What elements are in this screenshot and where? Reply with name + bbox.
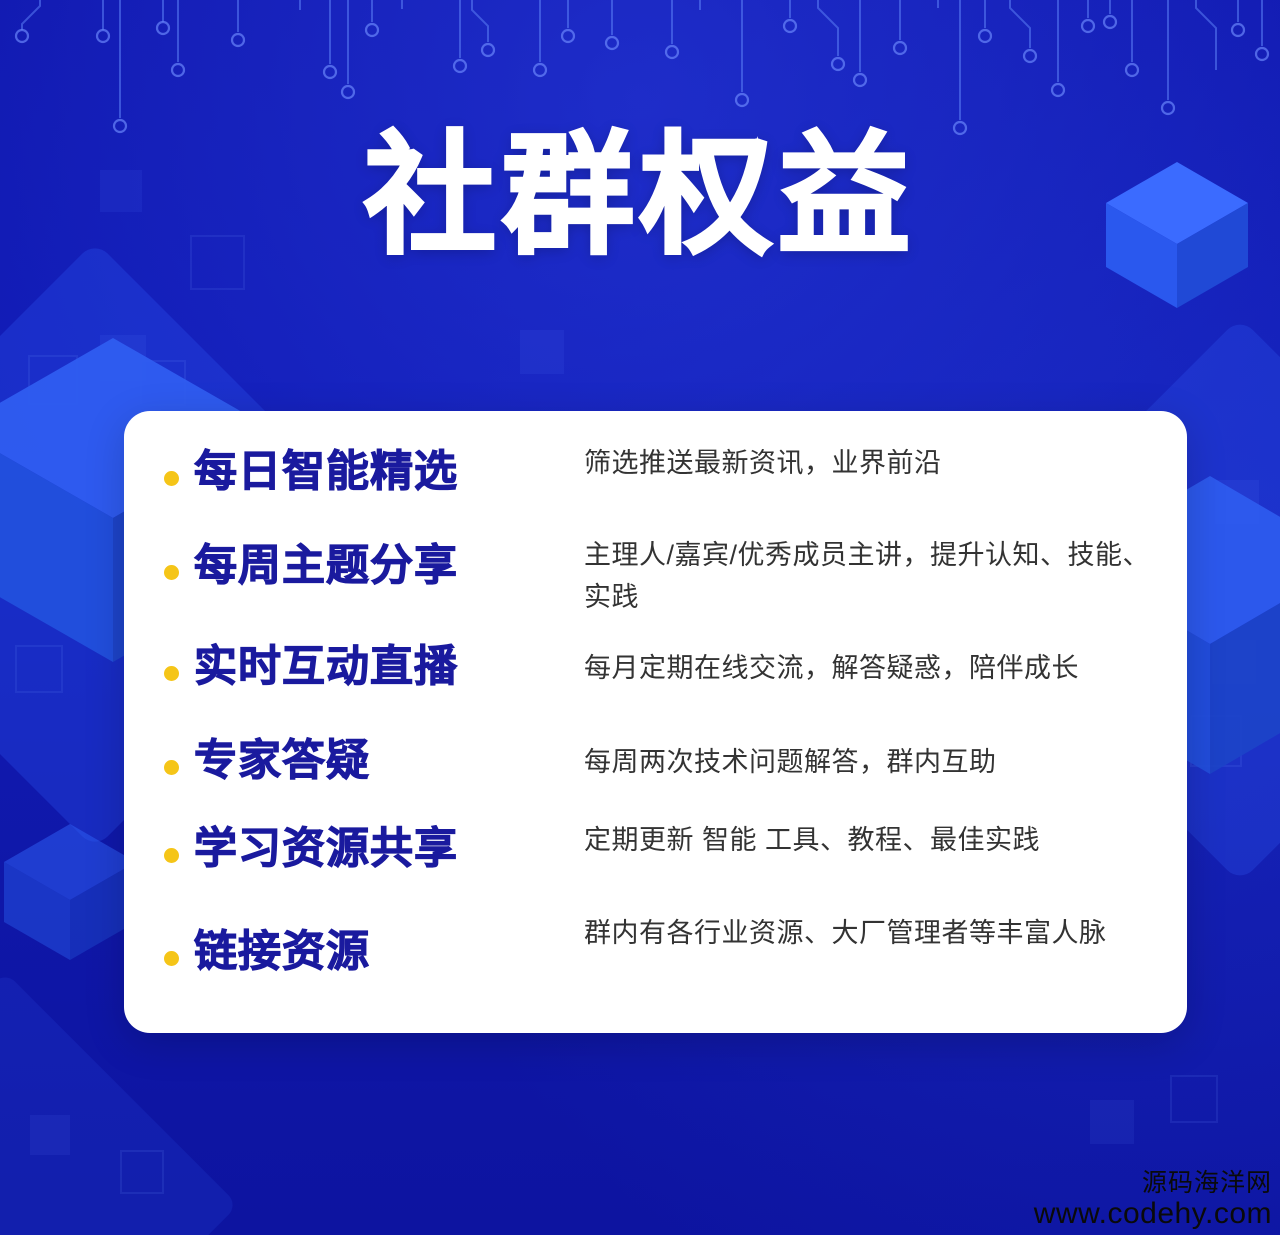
benefit-description: 群内有各行业资源、大厂管理者等丰富人脉 [574,913,1161,955]
bullet-dot-icon [164,848,179,863]
poster-heading: 社群权益 [0,128,1280,265]
benefit-item: 实时互动直播 每月定期在线交流，解答疑惑，陪伴成长 [164,630,1161,724]
decor-square-4 [520,330,564,374]
benefit-description: 每周两次技术问题解答，群内互助 [574,724,1161,784]
bullet-wrap [164,630,194,681]
bullet-dot-icon [164,760,179,775]
bullet-wrap [164,818,194,863]
bullet-wrap [164,913,194,966]
iso-cube-left-small [0,820,140,965]
benefit-title: 每周主题分享 [194,535,574,589]
decor-square-outline-7 [120,1150,164,1194]
decor-square-outline-6 [1170,1075,1218,1123]
benefit-title: 每日智能精选 [194,441,574,495]
benefit-title: 学习资源共享 [194,818,574,872]
poster-heading-text: 社群权益 [364,128,916,265]
bullet-wrap [164,724,194,775]
bullet-dot-icon [164,471,179,486]
benefit-description: 主理人/嘉宾/优秀成员主讲，提升认知、技能、实践 [574,535,1161,619]
watermark: 源码海洋网 www.codehy.com [1034,1169,1272,1231]
watermark-url: www.codehy.com [1034,1197,1272,1231]
decor-square-7 [1090,1100,1134,1144]
benefit-description: 每月定期在线交流，解答疑惑，陪伴成长 [574,630,1161,690]
benefit-title: 实时互动直播 [194,630,574,690]
benefit-item: 每周主题分享 主理人/嘉宾/优秀成员主讲，提升认知、技能、实践 [164,535,1161,629]
watermark-site-name: 源码海洋网 [1034,1169,1272,1197]
bullet-dot-icon [164,565,179,580]
benefit-title: 链接资源 [194,913,574,975]
benefits-list: 每日智能精选 筛选推送最新资讯，业界前沿 每周主题分享 主理人/嘉宾/优秀成员主… [164,441,1161,1007]
bullet-wrap [164,535,194,580]
benefit-item: 专家答疑 每周两次技术问题解答，群内互助 [164,724,1161,818]
poster-root: 社群权益 每日智能精选 筛选推送最新资讯，业界前沿 每周主题分享 主理人/嘉宾/… [0,0,1280,1235]
benefit-item: 每日智能精选 筛选推送最新资讯，业界前沿 [164,441,1161,535]
benefits-card: 每日智能精选 筛选推送最新资讯，业界前沿 每周主题分享 主理人/嘉宾/优秀成员主… [124,411,1187,1033]
benefit-item: 学习资源共享 定期更新 智能 工具、教程、最佳实践 [164,818,1161,912]
benefit-description: 筛选推送最新资讯，业界前沿 [574,441,1161,485]
bullet-dot-icon [164,666,179,681]
benefit-title: 专家答疑 [194,724,574,784]
decor-square-8 [30,1115,70,1155]
bullet-wrap [164,441,194,486]
benefit-description: 定期更新 智能 工具、教程、最佳实践 [574,818,1161,862]
benefit-item: 链接资源 群内有各行业资源、大厂管理者等丰富人脉 [164,913,1161,1007]
bullet-dot-icon [164,951,179,966]
